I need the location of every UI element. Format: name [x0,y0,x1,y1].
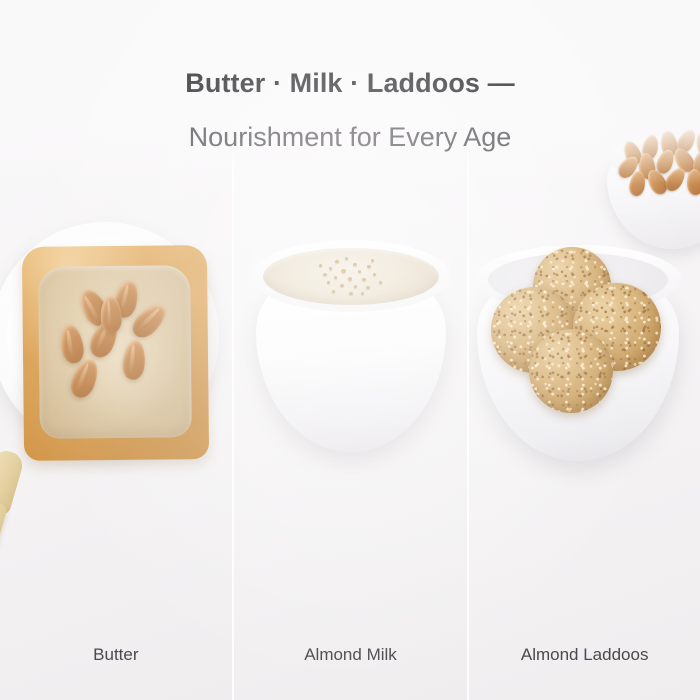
panel-caption-almond-laddoos: Almond Laddoos [469,645,700,665]
page-title: Butter · Milk · Laddoos — [0,0,700,97]
almond-milk-surface [263,248,439,305]
toast-slice [22,245,209,461]
header: Butter · Milk · Laddoos — Nourishment fo… [0,0,700,185]
panel-caption-almond-milk: Almond Milk [234,645,468,665]
laddoo-ball [529,329,613,413]
page-subtitle: Nourishment for Every Age [0,97,700,151]
crumb-sprinkle [263,248,439,305]
laddoo-bowl [475,245,681,463]
poster: Butter [0,0,700,700]
panel-caption-butter: Butter [0,645,232,665]
milk-bowl [252,240,450,458]
